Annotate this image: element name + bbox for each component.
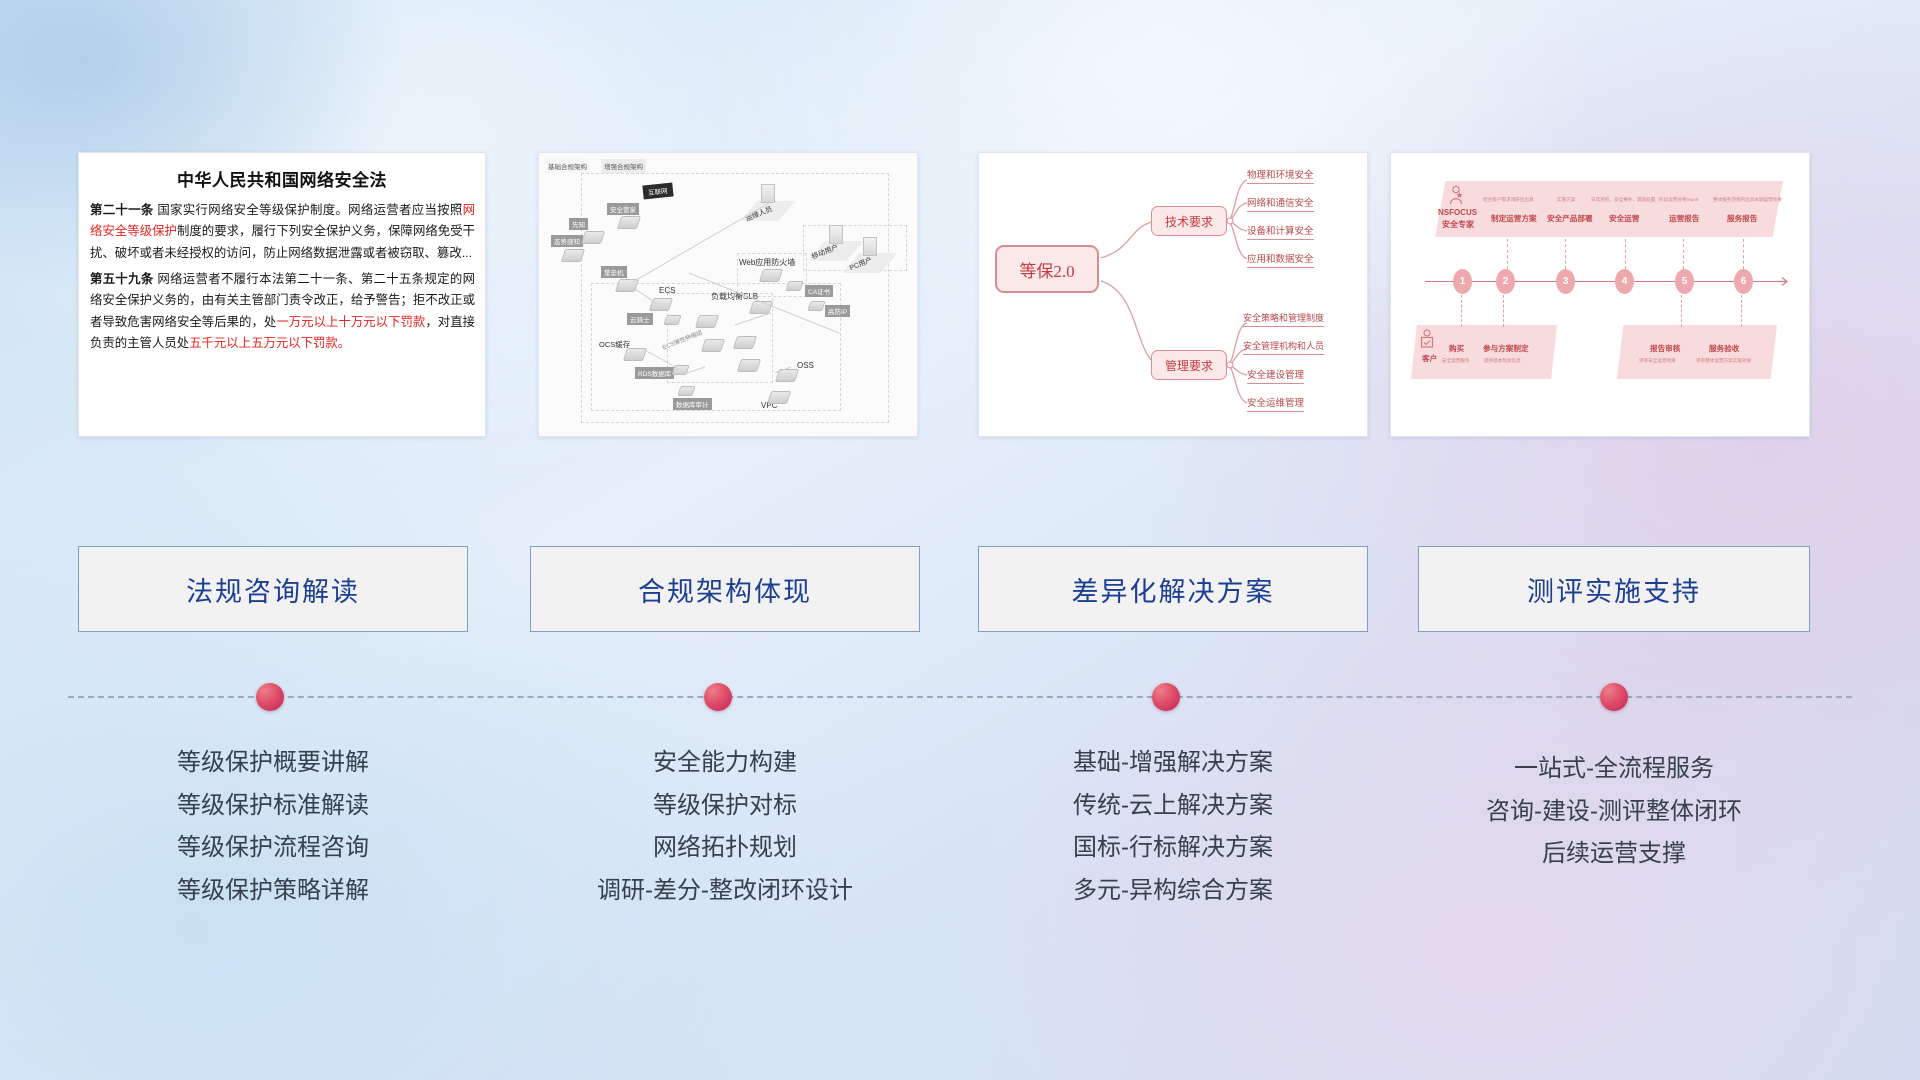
- timeline-expert-subtitle: 安全专家: [1442, 219, 1474, 230]
- timeline-connector-line: [68, 696, 1852, 698]
- list-item: 调研-差分-整改闭环设计: [530, 870, 920, 913]
- timeline-top-item-1-desc: 结合客户需求调研后出具: [1483, 197, 1534, 203]
- law-article-21: 第二十一条 国家实行网络安全等级保护制度。网络运营者应当按照网络安全等级保护制度…: [79, 200, 485, 264]
- timeline-top-item-5-title: 服务报告: [1727, 213, 1757, 224]
- heading-differentiated-solution-label: 差异化解决方案: [1072, 570, 1275, 609]
- timeline-bottom-item-4-title: 服务验收: [1709, 343, 1739, 354]
- list-item: 咨询-建设-测评整体闭环: [1418, 791, 1810, 834]
- customer-icon: [1419, 329, 1435, 356]
- timeline-connector-b5: [1681, 295, 1682, 327]
- timeline-connector-3: [1565, 239, 1566, 269]
- timeline-connector-b1: [1461, 295, 1462, 327]
- timeline-top-item-3-title: 安全运营: [1609, 213, 1639, 224]
- law-article-59-seg-3: 五千元以上五万元以下罚款。: [189, 336, 350, 350]
- column-differentiated-solution: 基础-增强解决方案 传统-云上解决方案 国标-行标解决方案 多元-异构综合方案: [978, 742, 1368, 913]
- timeline-bottom-item-4-desc: 评审整体运营方案实施效果: [1696, 358, 1751, 364]
- list-item: 基础-增强解决方案: [978, 742, 1368, 785]
- timeline-bottom-band-right: [1617, 325, 1777, 379]
- mindmap-leaf-application: 应用和数据安全: [1247, 251, 1314, 268]
- timeline-top-item-5-desc: 整体服务范围内出具本期运营效果: [1713, 197, 1782, 203]
- timeline-bottom-item-1-desc: 安全运营服务: [1442, 358, 1470, 364]
- timeline-top-band: [1435, 181, 1783, 237]
- heading-compliance-architecture-label: 合规架构体现: [638, 570, 812, 609]
- cybersecurity-law-card: 中华人民共和国网络安全法 第二十一条 国家实行网络安全等级保护制度。网络运营者应…: [78, 152, 486, 437]
- timeline-dot-1: [256, 683, 284, 711]
- timeline-arrow-icon: [1775, 276, 1795, 288]
- timeline-step-5: 5: [1675, 269, 1694, 294]
- timeline-expert-title: NSFOCUS: [1438, 208, 1477, 217]
- timeline-connector-b6: [1741, 295, 1742, 327]
- list-item: 后续运营支撑: [1418, 833, 1810, 876]
- list-item: 传统-云上解决方案: [978, 785, 1368, 828]
- list-item: 等级保护流程咨询: [78, 827, 468, 870]
- timeline-bottom-item-2-desc: 提供基本现状信息: [1484, 358, 1521, 364]
- timeline-connector-2: [1507, 239, 1508, 269]
- timeline-top-item-2-desc: 实施方案: [1557, 197, 1575, 203]
- timeline-connector-4: [1625, 239, 1626, 269]
- timeline-connector-b2: [1503, 295, 1504, 327]
- heading-assessment-support-label: 测评实施支持: [1527, 570, 1701, 609]
- timeline-dot-3: [1152, 683, 1180, 711]
- djcp-mindmap-card: 等保2.0 技术要求 物理和环境安全 网络和通信安全 设备和计算安全 应用和数据…: [978, 152, 1368, 437]
- list-item: 等级保护策略详解: [78, 870, 468, 913]
- law-title: 中华人民共和国网络安全法: [79, 166, 485, 191]
- law-article-59-seg-1: 一万元以上十万元以下罚款: [276, 315, 425, 329]
- timeline-step-4: 4: [1615, 269, 1634, 294]
- timeline-top-item-3-desc: 日常巡检、安全事件、漏洞处置: [1591, 197, 1655, 203]
- list-item: 国标-行标解决方案: [978, 827, 1368, 870]
- list-item: 等级保护对标: [530, 785, 920, 828]
- column-regulation-consulting: 等级保护概要讲解 等级保护标准解读 等级保护流程咨询 等级保护策略详解: [78, 742, 468, 913]
- list-item: 安全能力构建: [530, 742, 920, 785]
- mindmap-leaf-device: 设备和计算安全: [1247, 223, 1314, 240]
- timeline-bottom-item-3-title: 报告审核: [1650, 343, 1680, 354]
- heading-differentiated-solution[interactable]: 差异化解决方案: [978, 546, 1368, 632]
- timeline-bottom-item-2-title: 参与方案制定: [1483, 343, 1529, 354]
- list-item: 网络拓扑规划: [530, 827, 920, 870]
- law-article-59: 第五十九条 网络运营者不履行本法第二十一条、第二十五条规定的网络安全保护义务的，…: [79, 269, 485, 354]
- list-item: 多元-异构综合方案: [978, 870, 1368, 913]
- list-item: 等级保护标准解读: [78, 785, 468, 828]
- timeline-top-item-4-title: 运营报告: [1669, 213, 1699, 224]
- timeline-top-item-2-title: 安全产品部署: [1547, 213, 1593, 224]
- column-assessment-support: 一站式-全流程服务 咨询-建设-测评整体闭环 后续运营支撑: [1418, 748, 1810, 876]
- column-compliance-architecture: 安全能力构建 等级保护对标 网络拓扑规划 调研-差分-整改闭环设计: [530, 742, 920, 913]
- timeline-top-item-4-desc: 阶段运营效果report: [1659, 197, 1699, 203]
- heading-compliance-architecture[interactable]: 合规架构体现: [530, 546, 920, 632]
- timeline-connector-6: [1743, 239, 1744, 269]
- timeline-dot-4: [1600, 683, 1628, 711]
- heading-regulation-consulting[interactable]: 法规咨询解读: [78, 546, 468, 632]
- mindmap-leaf-ops: 安全运维管理: [1247, 395, 1304, 412]
- timeline-customer-title: 客户: [1422, 353, 1437, 364]
- timeline-step-6: 6: [1734, 269, 1753, 294]
- law-article-21-number: 第二十一条: [90, 203, 154, 217]
- timeline-bottom-item-3-desc: 评审安全运营效果: [1639, 358, 1676, 364]
- timeline-axis: [1425, 281, 1777, 282]
- law-article-21-seg-0: 国家实行网络安全等级保护制度。网络运营者应当按照: [154, 203, 463, 217]
- law-article-59-number: 第五十九条: [90, 272, 154, 286]
- mindmap-leaf-policy: 安全策略和管理制度: [1243, 311, 1324, 327]
- timeline-step-3: 3: [1556, 269, 1575, 294]
- cloud-compliance-architecture-card: 基础合规架构 增强合规架构 互联网 态势感知 先知 安全管家 堡垒机 ECS 云…: [538, 152, 918, 437]
- timeline-top-item-1-title: 制定运营方案: [1491, 213, 1537, 224]
- timeline-step-2: 2: [1496, 269, 1515, 294]
- heading-assessment-support[interactable]: 测评实施支持: [1418, 546, 1810, 632]
- list-item: 等级保护概要讲解: [78, 742, 468, 785]
- mindmap-branch-management: 管理要求: [1151, 350, 1227, 380]
- mindmap-leaf-physical: 物理和环境安全: [1247, 167, 1314, 184]
- timeline-step-1: 1: [1453, 269, 1472, 294]
- list-item: 一站式-全流程服务: [1418, 748, 1810, 791]
- mindmap-root-node: 等保2.0: [995, 245, 1099, 293]
- arch-connector-lines: [539, 153, 918, 437]
- mindmap-branch-technical: 技术要求: [1151, 206, 1227, 236]
- timeline-bottom-item-1-title: 购买: [1449, 343, 1464, 354]
- heading-regulation-consulting-label: 法规咨询解读: [186, 570, 360, 609]
- expert-icon: [1447, 185, 1465, 210]
- timeline-connector-5: [1683, 239, 1684, 269]
- mindmap-leaf-construction: 安全建设管理: [1247, 367, 1304, 384]
- timeline-dot-2: [704, 683, 732, 711]
- mindmap-leaf-org: 安全管理机构和人员: [1243, 339, 1324, 355]
- mindmap-leaf-network: 网络和通信安全: [1247, 195, 1314, 212]
- nsfocus-service-timeline-card: NSFOCUS 安全专家 客户 制定运营方案 结合客户需求调研后出具 安全产品部…: [1390, 152, 1810, 437]
